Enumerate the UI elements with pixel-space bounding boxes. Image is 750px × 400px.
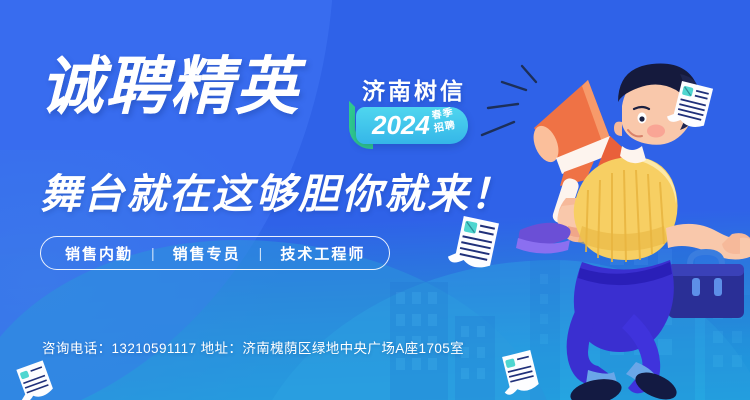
badge-year: 2024 [372, 112, 430, 138]
job-position-3: 技术工程师 [280, 243, 365, 264]
floating-document-icon-left [12, 360, 60, 400]
job-position-2: 销售专员 [173, 243, 241, 264]
page-subtitle: 舞台就在这够胆你就来！ [40, 160, 513, 220]
job-separator-1: | [151, 245, 155, 261]
job-positions-pill: 销售内勤 | 销售专员 | 技术工程师 [40, 236, 390, 270]
company-name: 济南树信 [362, 72, 466, 106]
job-separator-2: | [259, 245, 263, 261]
job-position-1: 销售内勤 [65, 243, 133, 264]
briefcase-icon [668, 252, 744, 318]
contact-footer: 咨询电话：13210591117 地址：济南槐荫区绿地中央广场A座1705室 [42, 337, 464, 357]
floating-document-icon-top [664, 78, 718, 136]
floating-document-icon-middle [444, 212, 506, 278]
page-title: 诚聘精英 [40, 56, 300, 119]
recruitment-banner: 诚聘精英 济南树信 2024 春季 招聘 舞台就在这够胆你就来！ 销售内勤 | … [0, 0, 750, 400]
floating-document-icon-bottom [496, 348, 546, 400]
